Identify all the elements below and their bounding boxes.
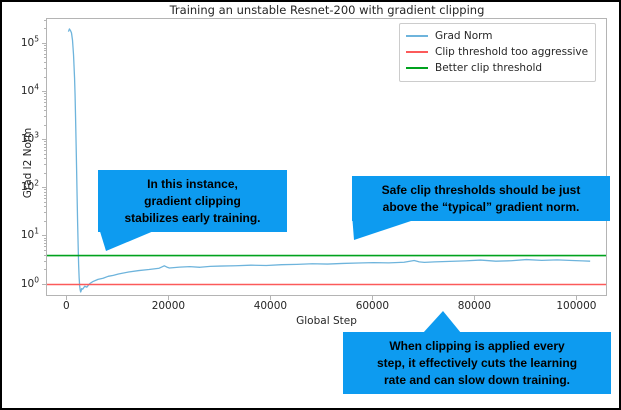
y-tick-minor (44, 96, 46, 97)
y-tick-minor (44, 240, 46, 241)
y-tick-mark (42, 187, 46, 188)
y-tick-minor (44, 99, 46, 100)
y-tick-minor (44, 246, 46, 247)
y-tick-minor (44, 102, 46, 103)
y-tick-mark (42, 43, 46, 44)
slow-training-callout: When clipping is applied every step, it … (343, 332, 611, 394)
y-tick-minor (44, 28, 46, 29)
y-tick-exponent: 5 (34, 34, 39, 43)
y-tick-minor (44, 116, 46, 117)
legend-label: Grad Norm (435, 30, 493, 42)
y-tick-label: 105 (21, 37, 39, 49)
callout-line: When clipping is applied every (351, 338, 603, 355)
y-tick-exponent: 0 (34, 275, 39, 284)
callout-body-early: In this instance, gradient clipping stab… (98, 170, 287, 232)
y-tick-minor (44, 192, 46, 193)
y-tick-minor (44, 238, 46, 239)
callout-line: above the “typical” gradient norm. (360, 199, 602, 216)
callout-line: rate and can slow down training. (351, 372, 603, 389)
legend-item: Better clip threshold (406, 60, 588, 76)
chart-title: Training an unstable Resnet-200 with gra… (46, 3, 608, 17)
y-tick-minor (44, 48, 46, 49)
y-tick-minor (44, 54, 46, 55)
y-tick-minor (44, 269, 46, 270)
y-tick-minor (44, 158, 46, 159)
y-tick-minor (44, 195, 46, 196)
callout-line: stabilizes early training. (106, 210, 279, 227)
callout-tail-slow (343, 311, 611, 333)
y-tick-minor (44, 150, 46, 151)
legend: Grad NormClip threshold too aggressiveBe… (399, 23, 596, 82)
callout-body-safe: Safe clip thresholds should be just abov… (352, 176, 610, 221)
legend-color-swatch (406, 35, 428, 37)
y-tick-exponent: 1 (34, 227, 39, 236)
safe-threshold-callout: Safe clip thresholds should be just abov… (352, 176, 610, 221)
y-tick-minor (44, 141, 46, 142)
x-tick-mark (168, 296, 169, 300)
y-tick-minor (44, 62, 46, 63)
y-tick-minor (44, 93, 46, 94)
y-tick-minor (44, 77, 46, 78)
x-tick-mark (270, 296, 271, 300)
y-tick-minor (44, 212, 46, 213)
x-tick-label: 40000 (254, 300, 287, 312)
y-tick-minor (44, 202, 46, 203)
y-tick-label: 104 (21, 85, 39, 97)
y-tick-label: 101 (21, 229, 39, 241)
x-tick-label: 20000 (152, 300, 185, 312)
y-tick-minor (44, 189, 46, 190)
x-tick-label: 0 (63, 300, 70, 312)
legend-item: Grad Norm (406, 28, 588, 44)
y-tick-mark (42, 235, 46, 236)
y-tick-exponent: 4 (34, 83, 39, 92)
early-training-callout: In this instance, gradient clipping stab… (98, 170, 287, 232)
y-tick-mark (42, 284, 46, 285)
y-tick-mark (42, 91, 46, 92)
callout-line: In this instance, (106, 176, 279, 193)
y-tick-minor (44, 110, 46, 111)
callout-line: step, it effectively cuts the learning (351, 355, 603, 372)
callout-line: gradient clipping (106, 193, 279, 210)
legend-label: Clip threshold too aggressive (435, 46, 588, 58)
y-tick-minor (44, 173, 46, 174)
x-tick-mark (474, 296, 475, 300)
callout-body-slow: When clipping is applied every step, it … (343, 332, 611, 394)
x-tick-mark (66, 296, 67, 300)
y-tick-minor (44, 198, 46, 199)
y-tick-mantissa: 10 (21, 85, 34, 97)
callout-line: Safe clip thresholds should be just (360, 182, 602, 199)
legend-label: Better clip threshold (435, 62, 542, 74)
y-tick-minor (44, 261, 46, 262)
x-tick-mark (576, 296, 577, 300)
y-tick-minor (44, 221, 46, 222)
y-tick-minor (44, 250, 46, 251)
y-tick-minor (44, 147, 46, 148)
y-tick-minor (44, 68, 46, 69)
y-axis-label: Grad l2 Norm (22, 103, 34, 223)
y-tick-minor (44, 144, 46, 145)
legend-color-swatch (406, 67, 428, 69)
legend-color-swatch (406, 51, 428, 53)
x-tick-mark (372, 296, 373, 300)
y-tick-minor (44, 125, 46, 126)
y-tick-minor (44, 206, 46, 207)
y-tick-minor (44, 50, 46, 51)
chart-screenshot: Training an unstable Resnet-200 with gra… (0, 0, 621, 410)
y-tick-label: 100 (21, 278, 39, 290)
y-tick-minor (44, 154, 46, 155)
y-tick-minor (44, 57, 46, 58)
y-tick-mantissa: 10 (21, 278, 34, 290)
y-tick-mantissa: 10 (21, 229, 34, 241)
matplotlib-figure: Training an unstable Resnet-200 with gra… (2, 2, 619, 408)
y-tick-minor (44, 20, 46, 21)
y-tick-minor (44, 255, 46, 256)
y-tick-exponent: 3 (34, 131, 39, 140)
y-tick-minor (44, 45, 46, 46)
y-tick-minor (44, 164, 46, 165)
y-tick-mark (42, 139, 46, 140)
y-tick-minor (44, 243, 46, 244)
y-tick-mantissa: 10 (21, 37, 34, 49)
legend-item: Clip threshold too aggressive (406, 44, 588, 60)
y-tick-exponent: 2 (34, 179, 39, 188)
y-tick-minor (44, 106, 46, 107)
